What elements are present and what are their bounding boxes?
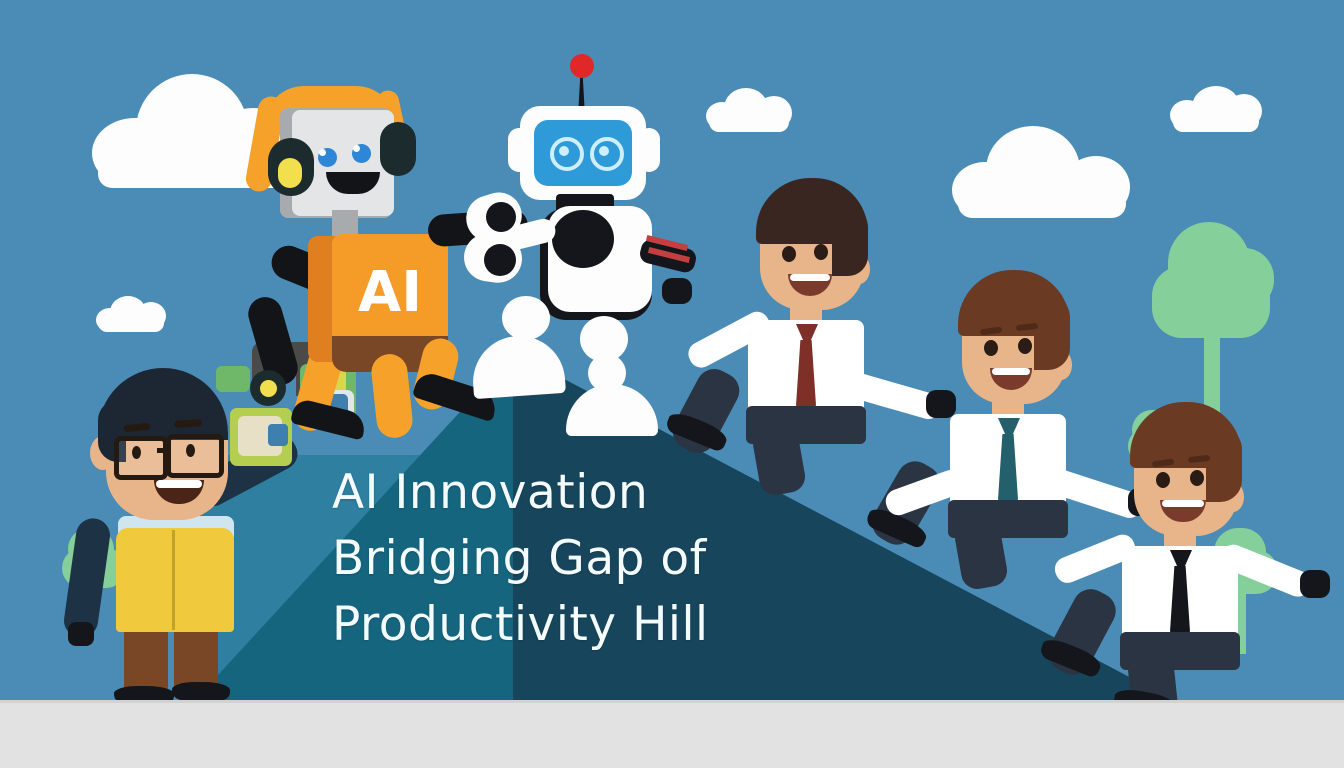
app-icon-green-small <box>216 366 250 392</box>
glasses-man-shoe-right <box>172 682 230 700</box>
bm2-teeth <box>992 368 1030 375</box>
bm1-hand-left <box>662 278 692 304</box>
bm3-teeth <box>1162 500 1204 507</box>
title-line-1: AI Innovation <box>332 460 932 526</box>
white-robot-ear-left <box>508 128 530 172</box>
glasses-man-vest-zip <box>172 530 175 630</box>
glasses-man-eye-left <box>132 446 141 459</box>
white-robot-hip-left <box>502 296 550 340</box>
title-line-2: Bridging Gap of <box>332 526 932 592</box>
page-title: AI Innovation Bridging Gap of Productivi… <box>332 460 932 658</box>
orange-robot-earphone-right <box>380 122 416 176</box>
white-robot-ear-right <box>638 128 660 172</box>
white-robot-chest-panel <box>552 210 614 268</box>
bm3-hair-side <box>1206 424 1242 502</box>
illustration-canvas: AI <box>0 0 1344 768</box>
orange-robot-earphone-left-center <box>278 158 302 188</box>
glasses-man-teeth <box>156 480 202 488</box>
ground-edge-line <box>0 700 1344 703</box>
orange-robot-hand-left-center <box>260 380 277 397</box>
bm3-eye-left <box>1156 472 1170 488</box>
white-robot-pupil-right <box>599 146 609 156</box>
glasses-lens-left <box>114 436 168 480</box>
orange-robot-eye-right-glint <box>353 145 360 152</box>
white-robot-pupil-left <box>559 146 569 156</box>
bm2-eye-left <box>984 340 998 356</box>
white-robot-antenna-ball <box>570 54 594 78</box>
glasses-man-eye-right <box>186 444 195 457</box>
bm1-eye-right <box>814 244 828 260</box>
orange-robot-ai-badge: AI <box>356 260 424 326</box>
bm3-eye-right <box>1190 470 1204 486</box>
white-robot-claw-upper-pad <box>486 202 516 232</box>
bm1-teeth <box>790 274 830 281</box>
title-line-3: Productivity Hill <box>332 592 932 658</box>
bm2-eye-right <box>1018 338 1032 354</box>
ground-strip <box>0 700 1344 768</box>
glasses-man-left-hand <box>68 622 94 646</box>
white-robot-foot-right <box>566 384 658 436</box>
glasses-bridge <box>157 448 169 453</box>
orange-robot-eye-left-glint <box>319 149 326 156</box>
bm1-eye-left <box>782 246 796 262</box>
bm1-hair-side <box>832 202 868 276</box>
bm2-hair-side <box>1034 292 1070 370</box>
app-icon-blue-small <box>268 424 288 446</box>
glasses-man-vest <box>116 528 234 632</box>
businessman-third <box>1052 408 1332 708</box>
white-robot-claw-lower-pad <box>484 244 516 276</box>
white-robot-foot-left <box>470 333 566 399</box>
bm3-hand-right <box>1300 570 1330 598</box>
